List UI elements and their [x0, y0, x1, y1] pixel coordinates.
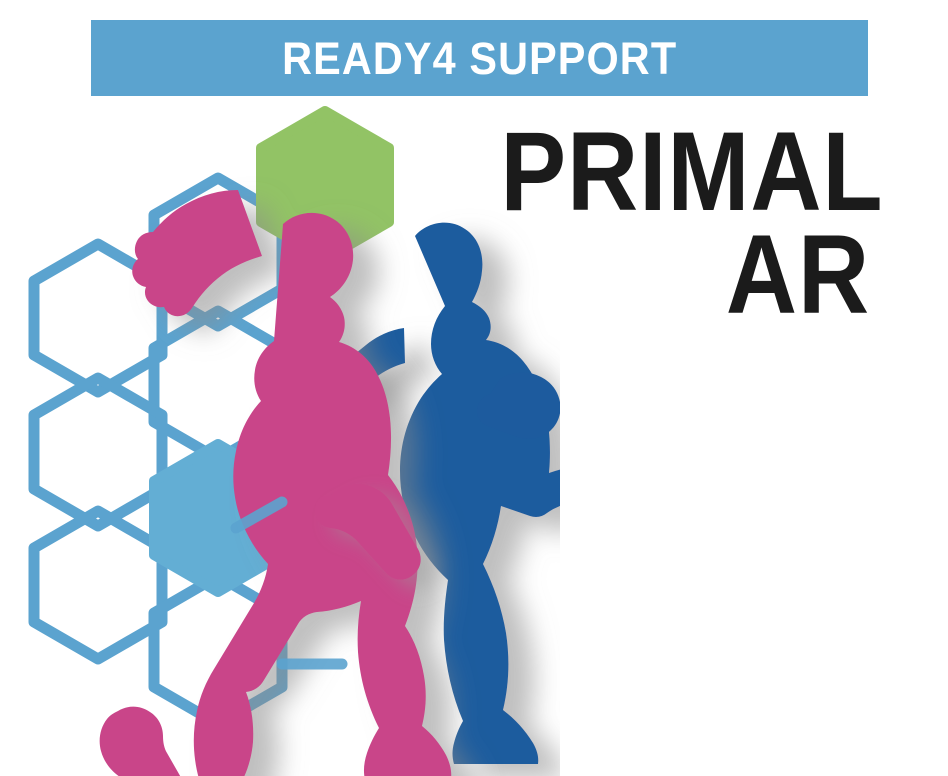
banner-title: READY4 SUPPORT: [282, 36, 677, 81]
poster-canvas: READY4 SUPPORT PRIMAL AR: [0, 0, 948, 776]
runner-female-rear-foot: [100, 707, 186, 776]
hex-left-lower: [34, 378, 162, 526]
ready4-support-banner: READY4 SUPPORT: [91, 20, 868, 96]
hex-left-bottom: [34, 511, 162, 659]
runners-artwork: [0, 96, 560, 776]
